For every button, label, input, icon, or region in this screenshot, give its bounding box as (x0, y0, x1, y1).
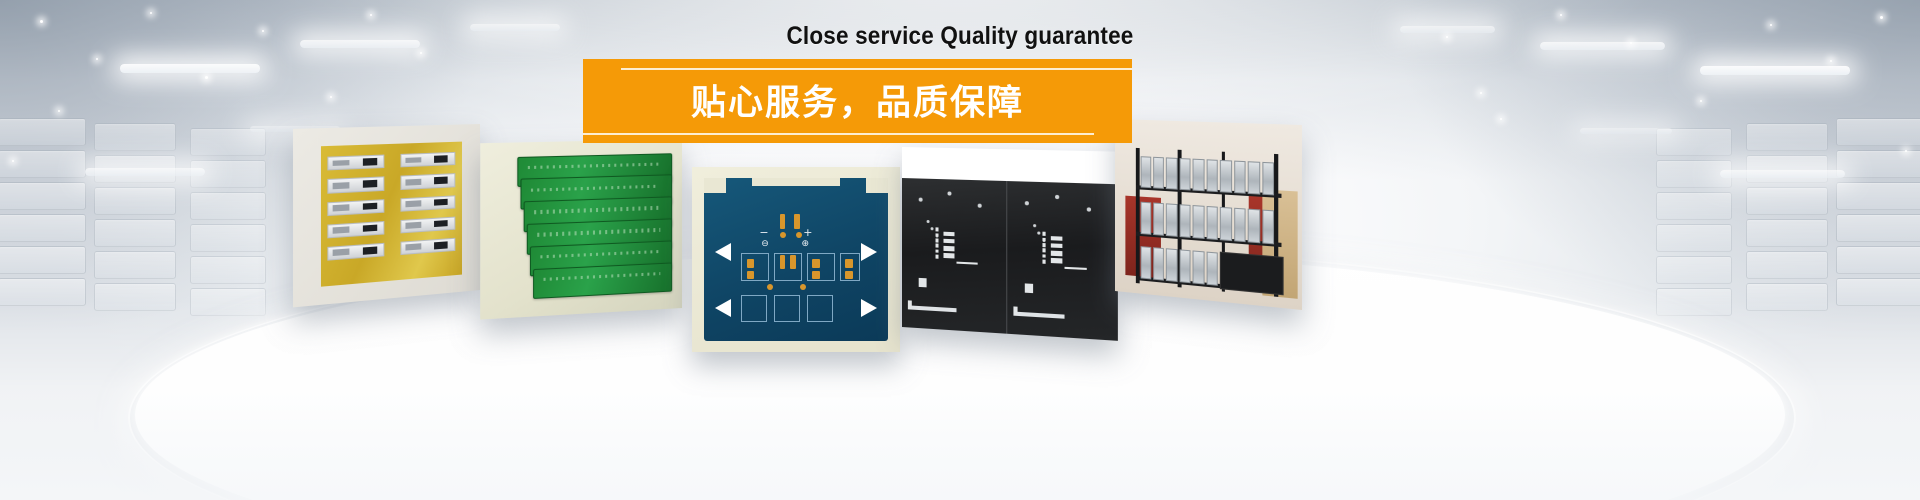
arrow-right-icon (861, 299, 877, 317)
arrow-left-icon (715, 299, 731, 317)
blue-pcb-substrate: − + ⊖ ⊕ (704, 178, 887, 341)
black-pcb-substrate (902, 178, 1118, 341)
minus-symbol: − (759, 227, 768, 238)
gallery-item-black-pcb-panel[interactable] (902, 147, 1118, 341)
headline-chinese-box: 贴心服务，品质保障 (583, 59, 1132, 143)
headline-english: Close service Quality guarantee (96, 22, 1824, 51)
gallery-item-blue-pcb-board[interactable]: − + ⊖ ⊕ (692, 167, 900, 352)
arrow-right-icon (861, 243, 877, 261)
gallery-item-terminal-block-rack[interactable] (1115, 119, 1302, 310)
minus-circle-symbol: ⊖ (761, 240, 769, 249)
rule-bottom (583, 133, 1094, 135)
rule-top (621, 68, 1132, 70)
gallery-item-green-pcb-stack[interactable] (480, 139, 682, 320)
plus-symbol: + (803, 227, 812, 238)
green-board-stack (518, 153, 671, 307)
plus-circle-symbol: ⊕ (801, 240, 809, 249)
arrow-left-icon (715, 243, 731, 261)
headline-chinese: 贴心服务，品质保障 (583, 74, 1132, 125)
module-column-left (327, 155, 382, 276)
gold-pcb-substrate (321, 141, 463, 287)
module-column-right (401, 152, 453, 269)
board-seam (1006, 181, 1007, 334)
promo-banner: − + ⊖ ⊕ (0, 0, 1920, 500)
gallery-item-gold-pcb-module-array[interactable] (293, 124, 480, 307)
